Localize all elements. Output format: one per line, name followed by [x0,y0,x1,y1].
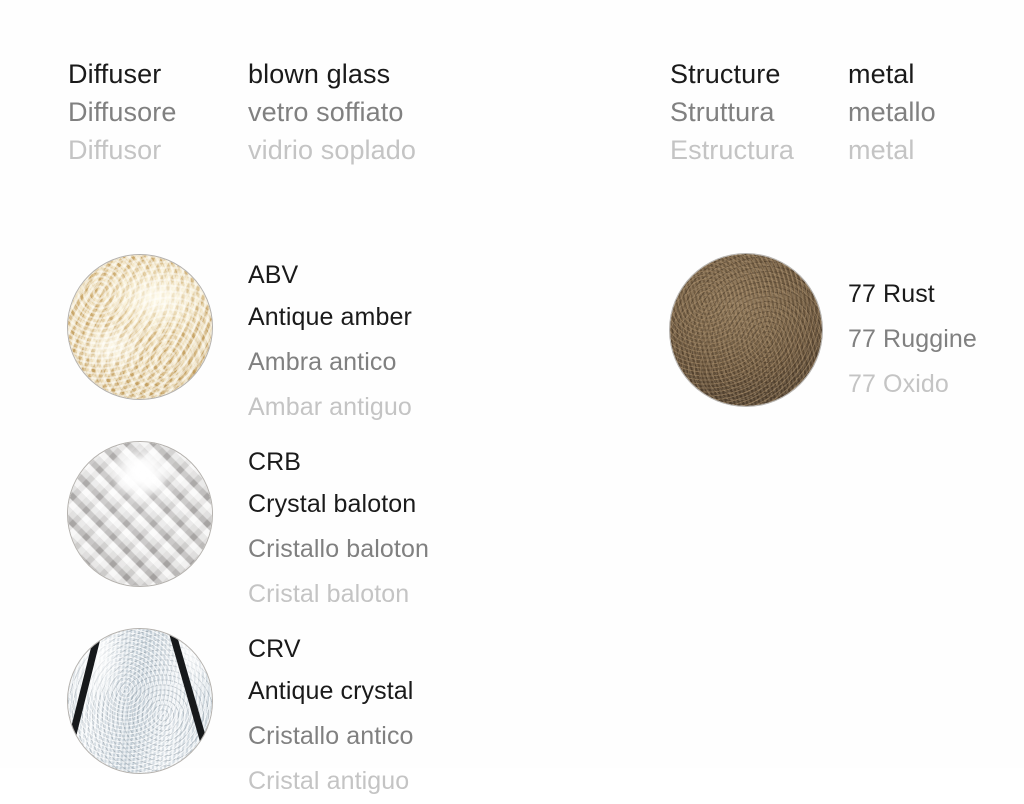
crv-code: CRV [248,629,414,669]
diffuser-material-es: vidrio soplado [248,131,416,169]
rust-text-block: 77 Rust 77 Ruggine 77 Oxido [848,272,977,407]
diffuser-category-es: Diffusor [68,131,176,169]
rust-metal-swatch[interactable] [670,254,822,406]
crystal-baloton-glass-swatch[interactable] [68,442,212,586]
structure-material-it: metallo [848,93,936,131]
rust-metal-texture [670,254,822,406]
crb-name-es: Cristal baloton [248,572,429,617]
diffuser-category-heading: Diffuser Diffusore Diffusor [68,55,176,169]
crb-name-en: Crystal baloton [248,482,429,527]
crv-name-en: Antique crystal [248,669,414,714]
diffuser-category-en: Diffuser [68,55,176,93]
abv-name-en: Antique amber [248,295,412,340]
rust-name-es: 77 Oxido [848,362,977,407]
abv-text-block: ABV Antique amber Ambra antico Ambar ant… [248,255,412,430]
diffuser-column: Diffuser Diffusore Diffusor blown glass … [68,55,628,177]
diffuser-material-it: vetro soffiato [248,93,416,131]
diffuser-header-row: Diffuser Diffusore Diffusor blown glass … [68,55,628,177]
diffuser-category-it: Diffusore [68,93,176,131]
structure-header-row: Structure Struttura Estructura metal met… [670,55,1020,177]
crv-text-block: CRV Antique crystal Cristallo antico Cri… [248,629,414,804]
material-specification-sheet: Diffuser Diffusore Diffusor blown glass … [0,0,1024,768]
rust-name-en: 77 Rust [848,272,977,317]
rust-name-it: 77 Ruggine [848,317,977,362]
structure-material-en: metal [848,55,936,93]
crb-name-it: Cristallo baloton [248,527,429,572]
crystal-baloton-texture [68,442,212,586]
structure-column: Structure Struttura Estructura metal met… [670,55,1020,177]
antique-crystal-glass-swatch[interactable] [68,629,212,773]
abv-code: ABV [248,255,412,295]
crv-name-it: Cristallo antico [248,714,414,759]
antique-amber-texture [68,255,212,399]
crb-text-block: CRB Crystal baloton Cristallo baloton Cr… [248,442,429,617]
diffuser-material-en: blown glass [248,55,416,93]
crv-name-es: Cristal antiguo [248,759,414,804]
structure-material-heading: metal metallo metal [848,55,936,169]
structure-material-es: metal [848,131,936,169]
structure-category-it: Struttura [670,93,794,131]
abv-name-es: Ambar antiguo [248,385,412,430]
structure-category-es: Estructura [670,131,794,169]
antique-amber-glass-swatch[interactable] [68,255,212,399]
structure-category-en: Structure [670,55,794,93]
diffuser-material-heading: blown glass vetro soffiato vidrio soplad… [248,55,416,169]
crb-code: CRB [248,442,429,482]
abv-name-it: Ambra antico [248,340,412,385]
structure-category-heading: Structure Struttura Estructura [670,55,794,169]
antique-crystal-texture [68,629,212,773]
